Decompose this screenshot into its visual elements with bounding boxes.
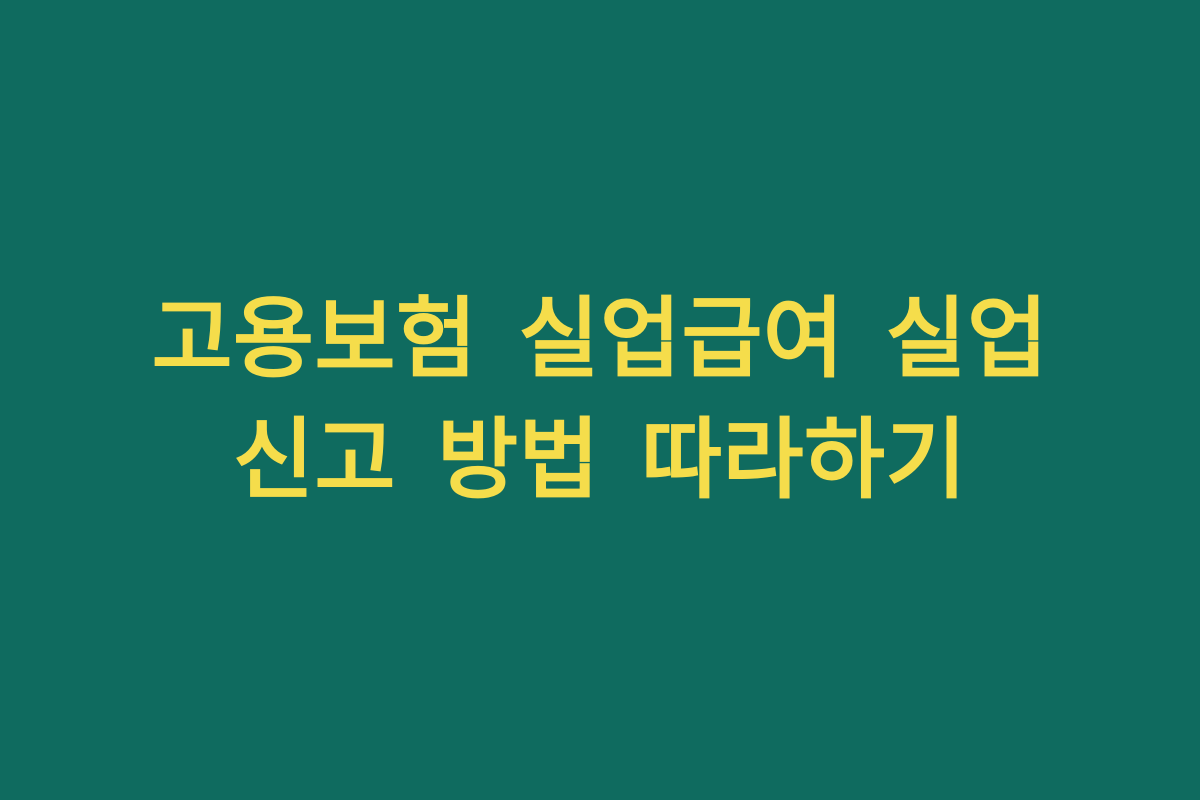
page-title-line-2: 신고 방법 따라하기	[60, 401, 1140, 520]
page-title-line-1: 고용보험 실업급여 실업	[60, 280, 1140, 399]
page-title: 고용보험 실업급여 실업 신고 방법 따라하기	[60, 280, 1140, 520]
banner-canvas: 고용보험 실업급여 실업 신고 방법 따라하기	[0, 0, 1200, 800]
